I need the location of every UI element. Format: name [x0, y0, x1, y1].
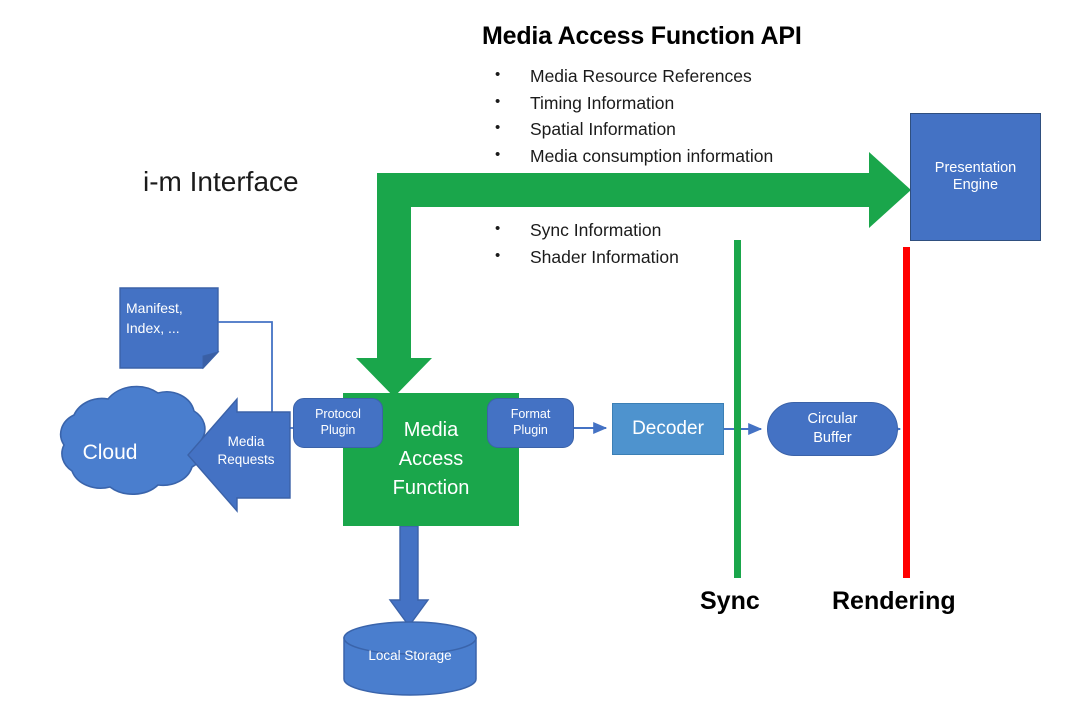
list-item: Timing Information — [487, 90, 773, 117]
node-manifest-label: Manifest, Index, ... — [126, 298, 212, 339]
page-title: Media Access Function API — [482, 22, 802, 51]
maf-to-storage-arrow — [390, 526, 428, 626]
node-format-plugin[interactable]: Format Plugin — [487, 398, 574, 448]
api-bullet-list: Media Resource References Timing Informa… — [487, 63, 773, 169]
node-circular-buffer[interactable]: Circular Buffer — [767, 402, 898, 456]
sync-bullet-list: Sync Information Shader Information — [487, 217, 679, 270]
node-cloud-label: Cloud — [55, 440, 165, 465]
list-item: Media Resource References — [487, 63, 773, 90]
list-item: Shader Information — [487, 244, 679, 271]
im-interface-label: i-m Interface — [143, 166, 299, 198]
list-item: Sync Information — [487, 217, 679, 244]
list-item: Spatial Information — [487, 116, 773, 143]
rendering-axis-label: Rendering — [832, 587, 956, 616]
sync-line — [734, 240, 741, 578]
list-item: Media consumption information — [487, 143, 773, 170]
rendering-line — [903, 247, 910, 578]
node-decoder[interactable]: Decoder — [612, 403, 724, 455]
node-local-storage-label: Local Storage — [345, 648, 475, 664]
sync-axis-label: Sync — [700, 587, 760, 616]
diagram-canvas: Media Access Function API Media Resource… — [0, 0, 1080, 712]
node-protocol-plugin[interactable]: Protocol Plugin — [293, 398, 383, 448]
node-presentation-engine[interactable]: Presentation Engine — [910, 113, 1041, 241]
media-requests-label: Media Requests — [207, 433, 285, 469]
